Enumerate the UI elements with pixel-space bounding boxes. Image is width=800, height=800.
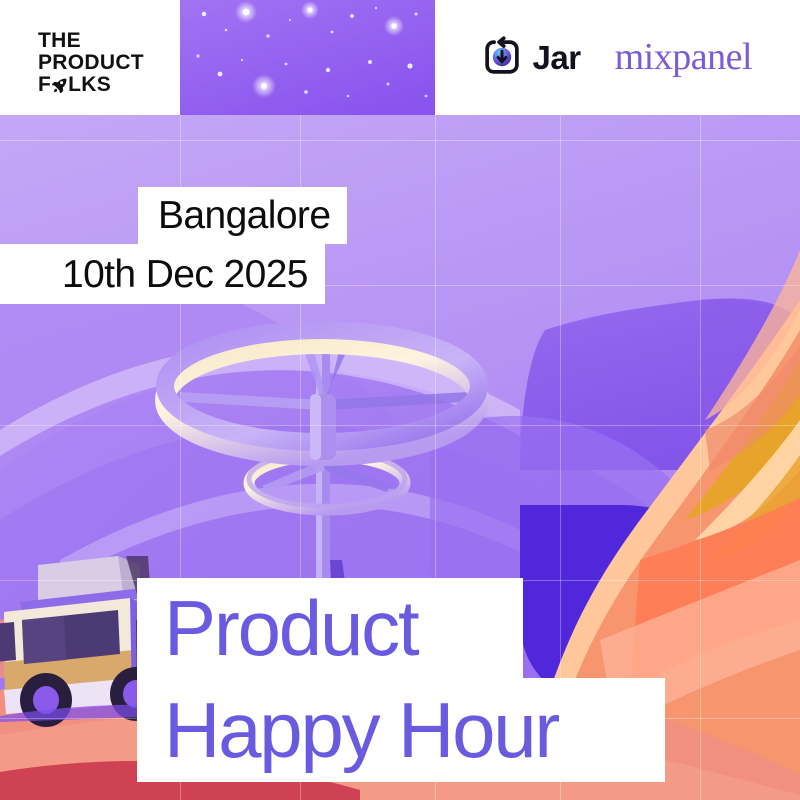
event-city-card: Bangalore	[138, 187, 347, 244]
brand-line-3-before: F	[38, 73, 51, 96]
starry-sky-panel	[180, 0, 435, 115]
sponsor-jar: Jar	[481, 36, 581, 78]
mixpanel-wordmark: mixpanel	[615, 38, 752, 76]
event-title-line1: Product	[164, 589, 417, 667]
event-date: 10th Dec 2025	[62, 255, 308, 294]
rocket-icon	[51, 77, 68, 94]
event-city: Bangalore	[158, 196, 330, 235]
brand-line-1: THE	[38, 30, 144, 52]
event-date-card: 10th Dec 2025	[0, 244, 325, 304]
brand-line-3: FLKS	[38, 74, 144, 96]
event-poster: THE PRODUCT FLKS Jar mixpanel Bangalore …	[0, 0, 800, 800]
sponsor-logos: Jar mixpanel	[481, 36, 752, 78]
jar-logo-icon	[481, 36, 523, 78]
brand-logo: THE PRODUCT FLKS	[38, 30, 144, 95]
brand-line-2: PRODUCT	[38, 52, 144, 74]
event-title-line2: Happy Hour	[164, 691, 558, 769]
brand-line-3-after: LKS	[68, 73, 111, 96]
event-title-card-line2: Happy Hour	[137, 678, 665, 782]
event-title-card-line1: Product	[137, 578, 523, 678]
jar-wordmark: Jar	[533, 41, 581, 74]
